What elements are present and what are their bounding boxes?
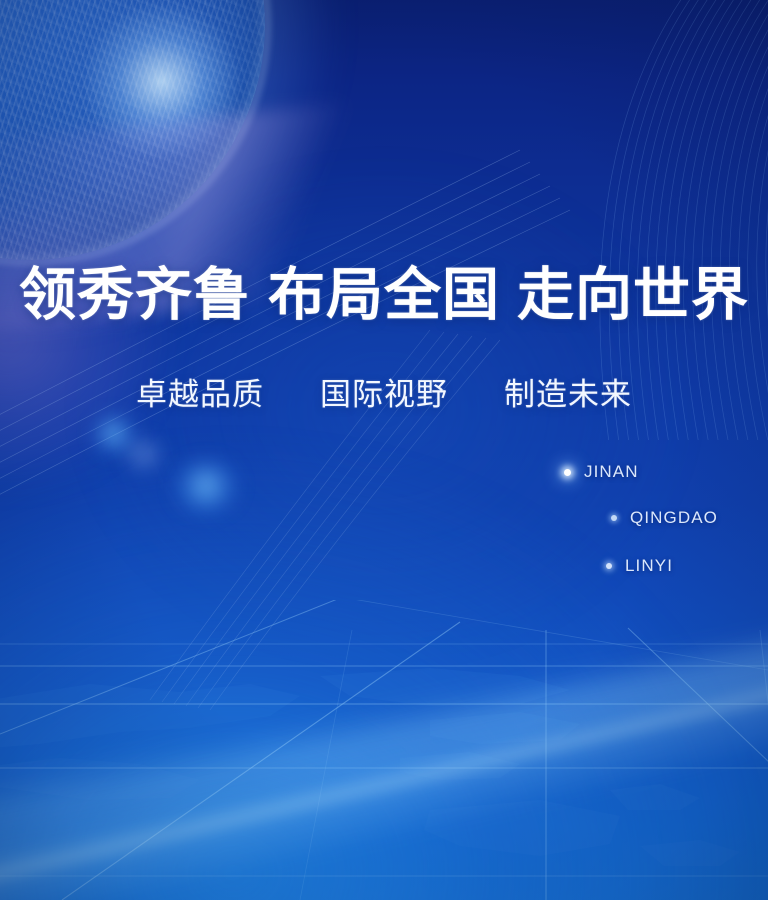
map-marker-jinan[interactable]: JINAN <box>564 462 639 482</box>
banner-content: 领秀齐鲁布局全国走向世界 卓越品质国际视野制造未来 JINAN QINGDAO … <box>0 0 768 900</box>
map-marker-label: QINGDAO <box>630 508 718 528</box>
subheadline-segment-1: 卓越品质 <box>136 377 264 412</box>
banner-subheadline: 卓越品质国际视野制造未来 <box>0 369 768 414</box>
subheadline-segment-2: 国际视野 <box>320 377 448 412</box>
headline-segment-2: 布局全国 <box>268 264 500 327</box>
map-marker-linyi[interactable]: LINYI <box>606 556 673 576</box>
map-marker-label: JINAN <box>584 462 639 482</box>
map-marker-qingdao[interactable]: QINGDAO <box>611 508 718 528</box>
map-pin-icon <box>564 469 571 476</box>
subheadline-segment-3: 制造未来 <box>504 377 632 412</box>
headline-segment-3: 走向世界 <box>517 264 749 327</box>
banner-headline: 领秀齐鲁布局全国走向世界 <box>0 266 768 325</box>
map-pin-icon <box>606 563 612 569</box>
map-marker-label: LINYI <box>625 556 673 576</box>
map-pin-icon <box>611 515 617 521</box>
headline-segment-1: 领秀齐鲁 <box>19 264 251 327</box>
promo-banner: 领秀齐鲁布局全国走向世界 卓越品质国际视野制造未来 JINAN QINGDAO … <box>0 0 768 900</box>
